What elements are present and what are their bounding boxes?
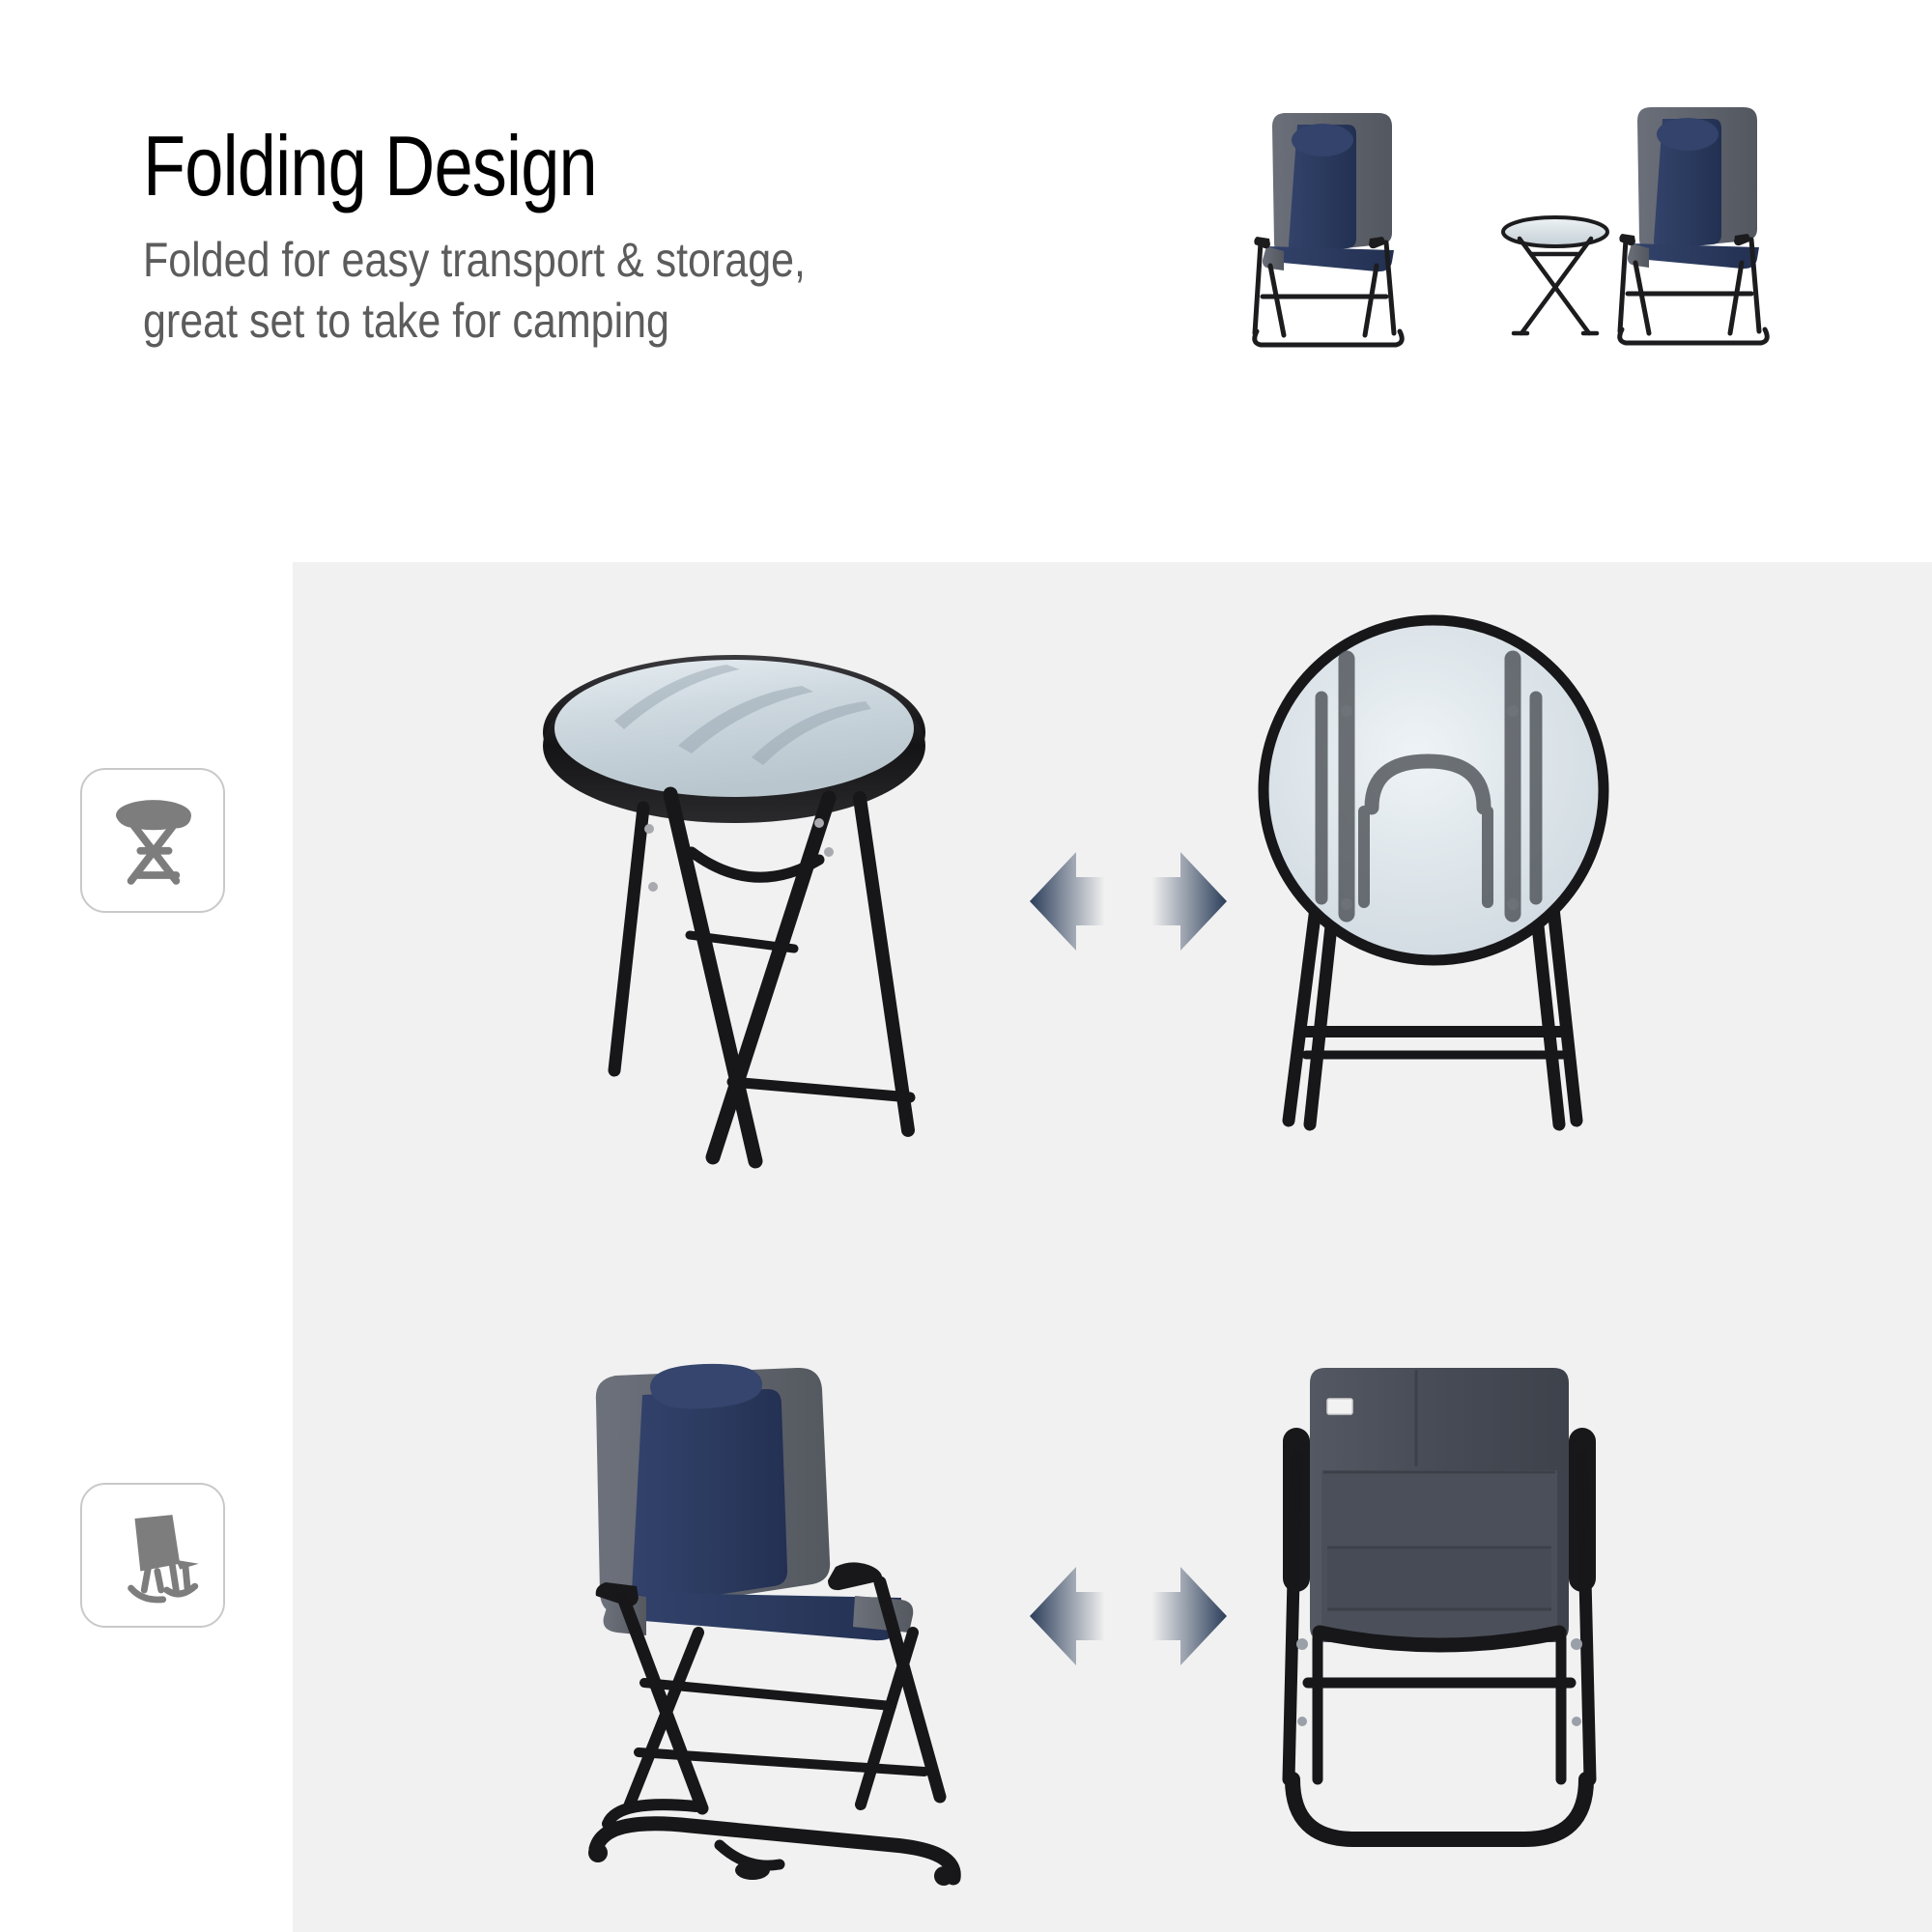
subtitle-line-1: Folded for easy transport & storage, [143,230,974,291]
page-title: Folding Design [143,124,935,209]
three-piece-bistro-set-photo [1241,92,1869,411]
folding-rocking-chair-icon [82,1485,223,1626]
double-arrow-icon-table [1022,838,1235,964]
page-subtitle: Folded for easy transport & storage, gre… [143,230,974,352]
hero-chair-right [1619,107,1767,343]
infographic-root: Folding Design Folded for easy transport… [0,0,1932,1932]
double-arrow-icon-chair [1022,1553,1235,1679]
hero-chair-left [1254,113,1402,345]
hero-table-center [1503,217,1607,333]
subtitle-line-2: great set to take for camping [143,291,974,352]
folding-table-icon [82,770,223,911]
product-chair-unfolded [536,1343,990,1913]
product-table-folded [1227,618,1652,1236]
header-text-block: Folding Design Folded for easy transport… [143,124,1109,352]
product-table-unfolded [522,628,947,1227]
feature-icon-box-table [80,768,225,913]
product-chair-folded [1227,1343,1652,1922]
feature-icon-box-chair [80,1483,225,1628]
